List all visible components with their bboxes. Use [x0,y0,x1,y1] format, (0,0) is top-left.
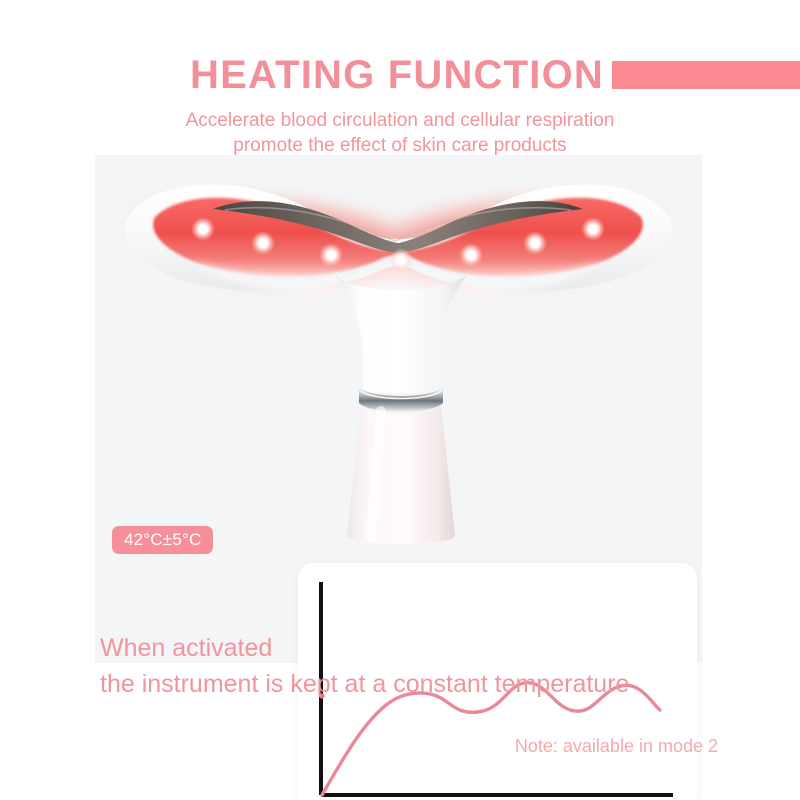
caption-line-1: When activated [100,630,800,666]
subtitle: Accelerate blood circulation and cellula… [0,108,800,158]
page-title: HEATING FUNCTION [190,52,604,98]
target-temperature-badge: 42°C±5°C [112,526,213,554]
product-stage [95,155,702,663]
title-accent-bar [612,61,800,89]
title-row: HEATING FUNCTION [0,52,800,100]
device-handle [347,405,455,544]
led-dot-2 [251,231,275,255]
device-neck [335,275,467,393]
caption: When activated the instrument is kept at… [100,630,800,702]
led-dot-3 [319,243,343,267]
led-dot-4 [389,248,413,272]
subtitle-line-1: Accelerate blood circulation and cellula… [0,108,800,133]
mode-note: Note: available in mode 2 [0,736,718,757]
led-dot-6 [523,231,547,255]
led-dot-1 [191,217,215,241]
led-dot-7 [581,217,605,241]
caption-line-2: the instrument is kept at a constant tem… [100,666,800,702]
led-dot-5 [459,243,483,267]
heating-function-infographic: HEATING FUNCTION Accelerate blood circul… [0,0,800,800]
